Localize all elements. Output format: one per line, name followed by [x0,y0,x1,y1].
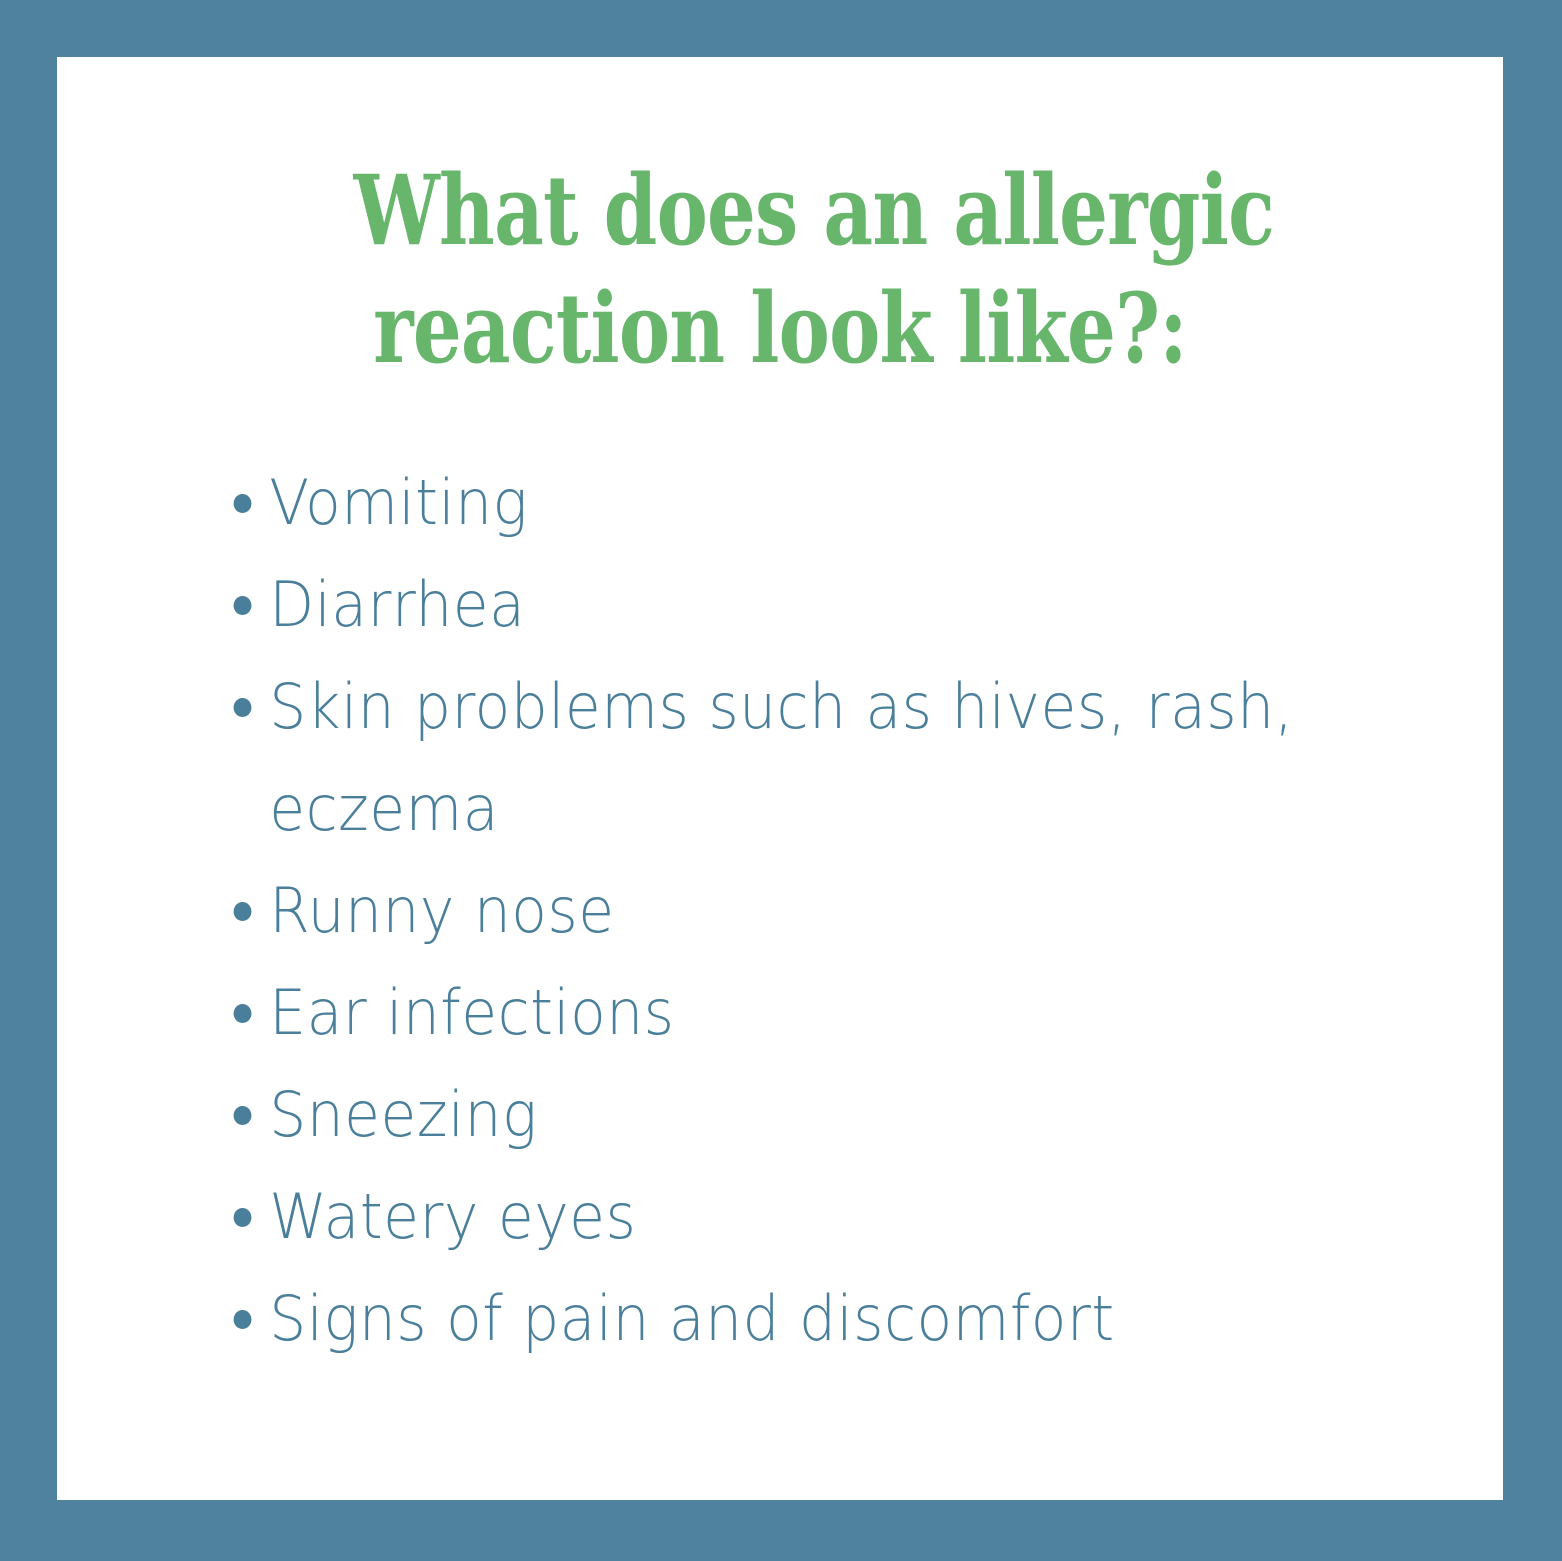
content-card: What does an allergic reaction look like… [57,57,1503,1500]
list-item: Runny nose [180,860,1393,962]
list-item: Ear infections [180,962,1393,1064]
bullet-icon [234,596,252,615]
bullet-icon [234,494,252,513]
list-item-label: Diarrhea [269,554,1392,656]
symptom-list: Vomiting Diarrhea Skin problems such as … [180,452,1470,1370]
list-item-label: Skin problems such as hives, rash, eczem… [269,656,1392,860]
bullet-icon [234,1310,252,1329]
list-item: Signs of pain and discomfort [180,1268,1393,1370]
list-item: Vomiting [180,452,1393,554]
bullet-icon [234,1106,252,1125]
bullet-icon [234,1208,252,1227]
list-item-label: Runny nose [269,860,1392,962]
list-item-label: Watery eyes [269,1166,1392,1268]
list-item-label: Signs of pain and discomfort [269,1268,1392,1370]
list-item-label: Vomiting [269,452,1392,554]
list-item: Sneezing [180,1064,1393,1166]
bullet-icon [234,902,252,921]
bullet-icon [234,1004,252,1023]
title-line-2: reaction look like?: [354,270,1207,388]
page-title: What does an allergic reaction look like… [57,152,1503,388]
list-item: Watery eyes [180,1166,1393,1268]
list-item-label: Sneezing [269,1064,1392,1166]
bullet-icon [234,698,252,717]
list-item: Skin problems such as hives, rash, eczem… [180,656,1393,860]
list-item-label: Ear infections [269,962,1392,1064]
title-line-1: What does an allergic [354,152,1207,270]
list-item: Diarrhea [180,554,1393,656]
poster-frame: What does an allergic reaction look like… [0,0,1562,1561]
